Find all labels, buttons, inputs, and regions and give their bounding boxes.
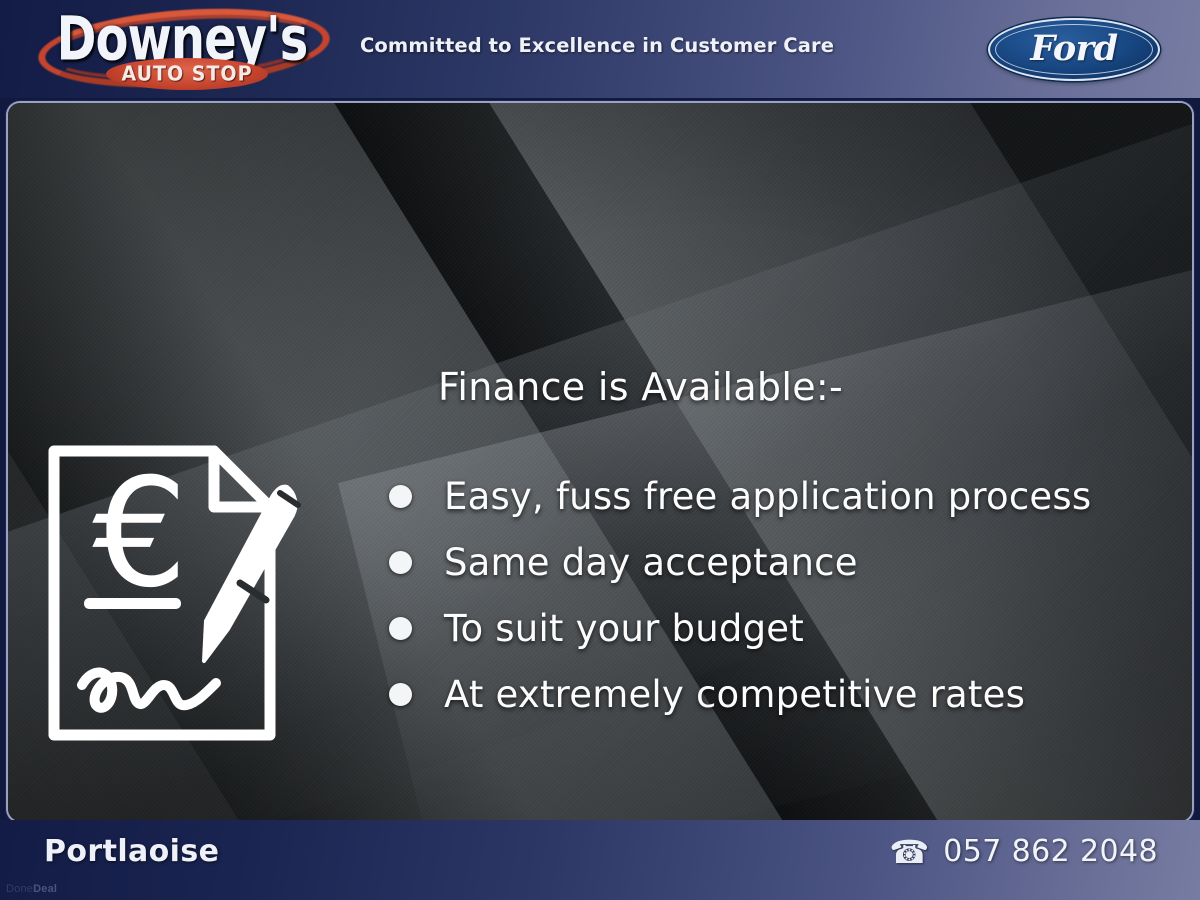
page-title: Finance is Available:-: [438, 365, 843, 409]
bullet-dot-icon: [389, 485, 412, 508]
ford-logo[interactable]: Ford: [988, 18, 1160, 81]
bullet-dot-icon: [389, 551, 412, 574]
header-bar: Downey's AUTO STOP Committed to Excellen…: [0, 0, 1200, 98]
list-item-label: Easy, fuss free application process: [444, 475, 1091, 518]
list-item: To suit your budget: [378, 595, 1188, 661]
header-tagline: Committed to Excellence in Customer Care: [360, 34, 834, 57]
watermark-prefix: Done: [6, 883, 33, 895]
document-rule-line: [84, 598, 181, 609]
bullet-dot-icon: [389, 617, 412, 640]
euro-symbol: €: [92, 447, 187, 621]
footer-bar: Portlaoise ☎ 057 862 2048: [0, 820, 1200, 900]
dealer-tagline-badge: AUTO STOP: [106, 59, 268, 89]
list-item-label: Same day acceptance: [444, 541, 858, 584]
benefits-list: Easy, fuss free application process Same…: [378, 463, 1188, 727]
source-watermark: DoneDeal: [6, 883, 57, 895]
main-image-panel: € Finance is Available:- Easy, fuss free…: [8, 103, 1192, 821]
list-item-label: To suit your budget: [444, 607, 804, 650]
watermark-suffix: Deal: [33, 883, 57, 895]
phone-number: 057 862 2048: [943, 834, 1158, 869]
telephone-icon: ☎: [889, 836, 929, 868]
list-item: At extremely competitive rates: [378, 661, 1188, 727]
bullet-dot-icon: [389, 683, 412, 706]
dealer-logo[interactable]: Downey's AUTO STOP: [32, 2, 332, 96]
list-item-label: At extremely competitive rates: [444, 673, 1025, 716]
euro-document-signature-icon: €: [44, 433, 304, 753]
contact-phone[interactable]: ☎ 057 862 2048: [889, 834, 1158, 869]
pen-icon: [204, 487, 298, 661]
list-item: Same day acceptance: [378, 529, 1188, 595]
list-item: Easy, fuss free application process: [378, 463, 1188, 529]
ford-logo-text: Ford: [990, 19, 1158, 78]
advert-canvas: Downey's AUTO STOP Committed to Excellen…: [0, 0, 1200, 900]
dealer-location: Portlaoise: [44, 834, 219, 869]
signature-stroke: [82, 672, 216, 707]
